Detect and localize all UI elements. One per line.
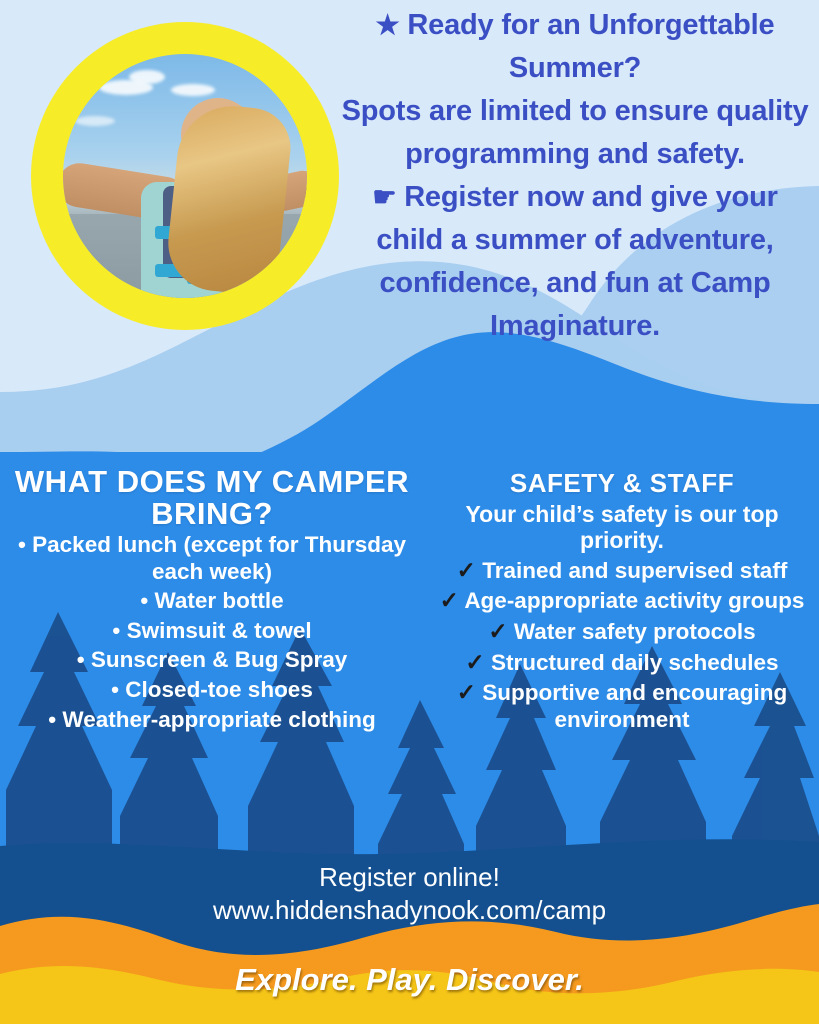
camper-photo [63,54,307,298]
hero-line-3-text: Register now and give your child a summe… [376,181,777,342]
bullet-icon: • [48,707,56,732]
list-item: • Water bottle [6,588,418,615]
bullet-icon: • [77,647,85,672]
tagline: Explore. Play. Discover. [0,962,819,998]
list-item-label: Trained and supervised staff [482,558,787,583]
check-icon: ✓ [465,649,484,675]
safety-staff-heading: SAFETY & STAFF [432,470,812,497]
register-online-label: Register online! [0,861,819,894]
list-item-label: Sunscreen & Bug Spray [91,647,347,672]
list-item-label: Packed lunch (except for Thursday each w… [32,532,406,584]
star-icon: ★ [376,10,400,40]
list-item-label: Water bottle [154,588,283,613]
hero-line-1-text: Ready for an Unforgettable Summer? [407,9,774,84]
list-item-label: Age-appropriate activity groups [464,588,804,613]
packing-list-section: WHAT DOES MY CAMPER BRING? • Packed lunc… [6,466,418,733]
check-icon: ✓ [488,618,507,644]
packing-list-items: • Packed lunch (except for Thursday each… [6,532,418,733]
bullet-icon: • [140,588,148,613]
list-item: • Weather-appropriate clothing [6,707,418,734]
bullet-icon: • [111,677,119,702]
hero-line-2: Spots are limited to ensure quality prog… [336,90,814,176]
check-icon: ✓ [457,557,476,583]
safety-staff-items: ✓ Trained and supervised staff ✓ Age-app… [432,557,812,733]
registration-url[interactable]: www.hiddenshadynook.com/camp [0,894,819,928]
list-item: • Swimsuit & towel [6,618,418,645]
list-item: ✓ Supportive and encouraging environment [432,679,812,733]
list-item-label: Closed-toe shoes [125,677,313,702]
list-item: ✓ Structured daily schedules [432,649,812,677]
list-item: ✓ Trained and supervised staff [432,557,812,585]
hero-line-1: ★ Ready for an Unforgettable Summer? [336,4,814,90]
pointing-hand-icon: ☛ [372,182,396,212]
list-item: • Packed lunch (except for Thursday each… [6,532,418,585]
list-item-label: Water safety protocols [514,619,756,644]
check-icon: ✓ [440,587,459,613]
bullet-icon: • [18,532,26,557]
list-item-label: Weather-appropriate clothing [62,707,375,732]
camp-flyer: ★ Ready for an Unforgettable Summer? Spo… [0,0,819,1024]
hero-line-3: ☛ Register now and give your child a sum… [336,176,814,348]
list-item: ✓ Water safety protocols [432,618,812,646]
check-icon: ✓ [457,679,476,705]
safety-staff-subheading: Your child’s safety is our top priority. [432,501,812,554]
list-item: • Closed-toe shoes [6,677,418,704]
camper-photo-circle [31,22,339,330]
footer-registration: Register online! www.hiddenshadynook.com… [0,861,819,927]
list-item-label: Supportive and encouraging environment [482,680,787,732]
packing-list-heading: WHAT DOES MY CAMPER BRING? [6,466,418,529]
list-item: • Sunscreen & Bug Spray [6,647,418,674]
list-item: ✓ Age-appropriate activity groups [432,587,812,615]
safety-staff-section: SAFETY & STAFF Your child’s safety is ou… [432,470,812,733]
list-item-label: Swimsuit & towel [127,618,312,643]
list-item-label: Structured daily schedules [491,650,779,675]
bullet-icon: • [112,618,120,643]
hero-text-block: ★ Ready for an Unforgettable Summer? Spo… [336,4,814,348]
